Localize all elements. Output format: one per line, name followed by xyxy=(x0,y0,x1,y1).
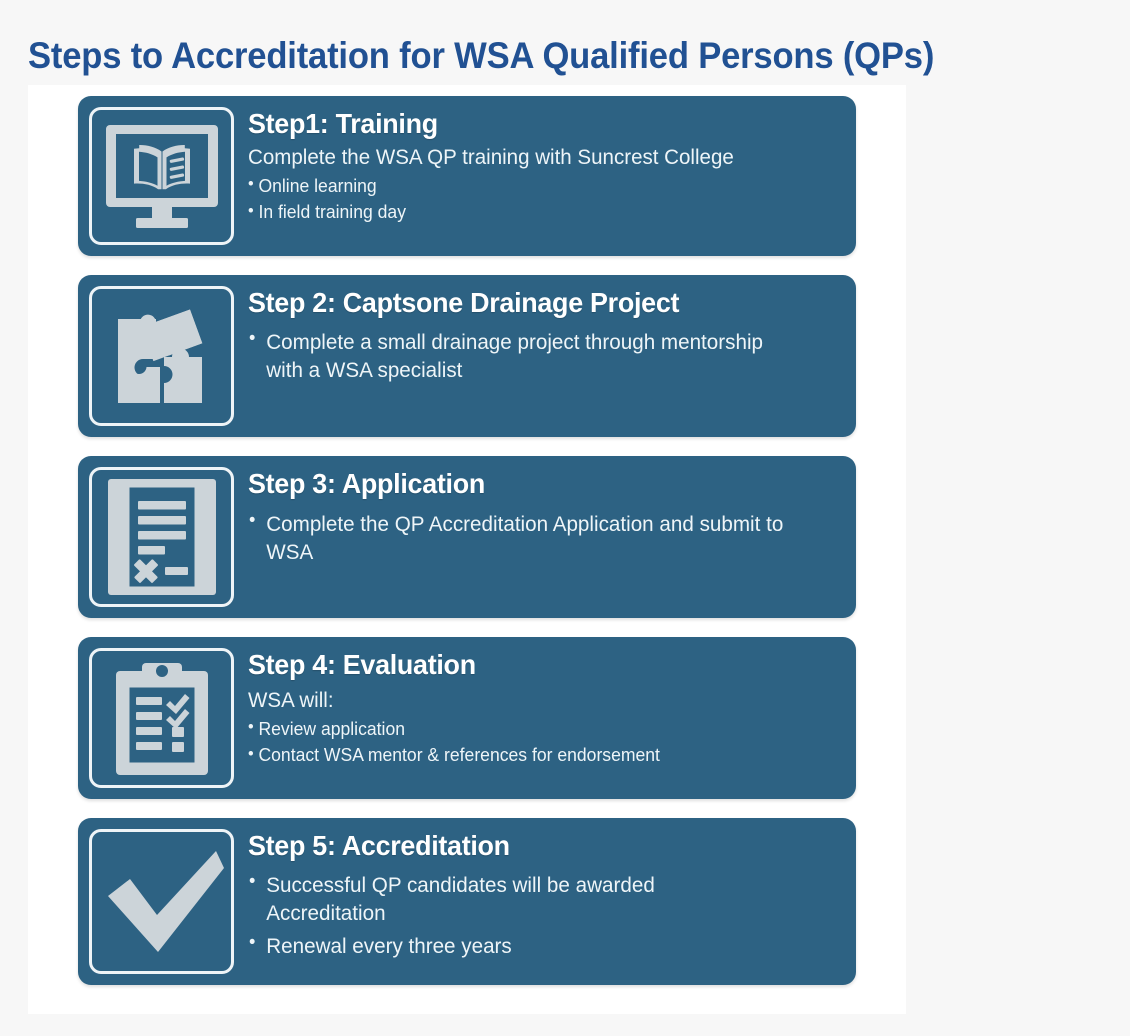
step-bullets-3: Complete the QP Accreditation Applicatio… xyxy=(248,510,844,566)
step-body-1: Step1: Training Complete the WSA QP trai… xyxy=(234,107,844,226)
step-heading: Step 3: Application xyxy=(248,469,820,499)
step-body-4: Step 4: Evaluation WSA will: Review appl… xyxy=(234,648,844,769)
step-bullets-1: Online learning In field training day xyxy=(248,173,844,226)
bullet-item: Complete a small drainage project throug… xyxy=(248,328,789,384)
step-lead: WSA will: xyxy=(248,688,817,713)
bullet-item: Review application xyxy=(248,716,814,743)
step-card-3: Step 3: Application Complete the QP Accr… xyxy=(78,456,856,618)
step-bullets-2: Complete a small drainage project throug… xyxy=(248,328,844,384)
clipboard-checklist-icon xyxy=(89,648,234,788)
step-card-2: Step 2: Captsone Drainage Project Comple… xyxy=(78,275,856,437)
steps-list: Step1: Training Complete the WSA QP trai… xyxy=(78,96,856,985)
step-body-5: Step 5: Accreditation Successful QP cand… xyxy=(234,829,844,962)
step-heading: Step 4: Evaluation xyxy=(248,650,820,680)
step-heading: Step 5: Accreditation xyxy=(248,831,820,861)
bullet-item: Successful QP candidates will be awarded… xyxy=(248,871,765,927)
checkmark-icon xyxy=(89,829,234,974)
step-heading: Step 2: Captsone Drainage Project xyxy=(248,288,820,318)
step-card-5: Step 5: Accreditation Successful QP cand… xyxy=(78,818,856,985)
puzzle-pieces-icon xyxy=(89,286,234,426)
bullet-item: Online learning xyxy=(248,173,814,200)
bullet-item: Complete the QP Accreditation Applicatio… xyxy=(248,510,818,566)
step-card-1: Step1: Training Complete the WSA QP trai… xyxy=(78,96,856,256)
page-title: Steps to Accreditation for WSA Qualified… xyxy=(28,34,1042,78)
bullet-item: Renewal every three years xyxy=(248,932,820,960)
step-heading: Step1: Training xyxy=(248,109,820,139)
application-form-icon xyxy=(89,467,234,607)
step-bullets-4: Review application Contact WSA mentor & … xyxy=(248,716,844,769)
bullet-item: In field training day xyxy=(248,199,814,226)
step-lead: Complete the WSA QP training with Suncre… xyxy=(248,145,817,170)
step-bullets-5: Successful QP candidates will be awarded… xyxy=(248,871,844,959)
infographic-page: Steps to Accreditation for WSA Qualified… xyxy=(0,0,1130,1036)
step-body-2: Step 2: Captsone Drainage Project Comple… xyxy=(234,286,844,387)
step-card-4: Step 4: Evaluation WSA will: Review appl… xyxy=(78,637,856,799)
bullet-item: Contact WSA mentor & references for endo… xyxy=(248,742,814,769)
step-body-3: Step 3: Application Complete the QP Accr… xyxy=(234,467,844,569)
steps-board: Step1: Training Complete the WSA QP trai… xyxy=(28,85,906,1014)
monitor-book-icon xyxy=(89,107,234,245)
